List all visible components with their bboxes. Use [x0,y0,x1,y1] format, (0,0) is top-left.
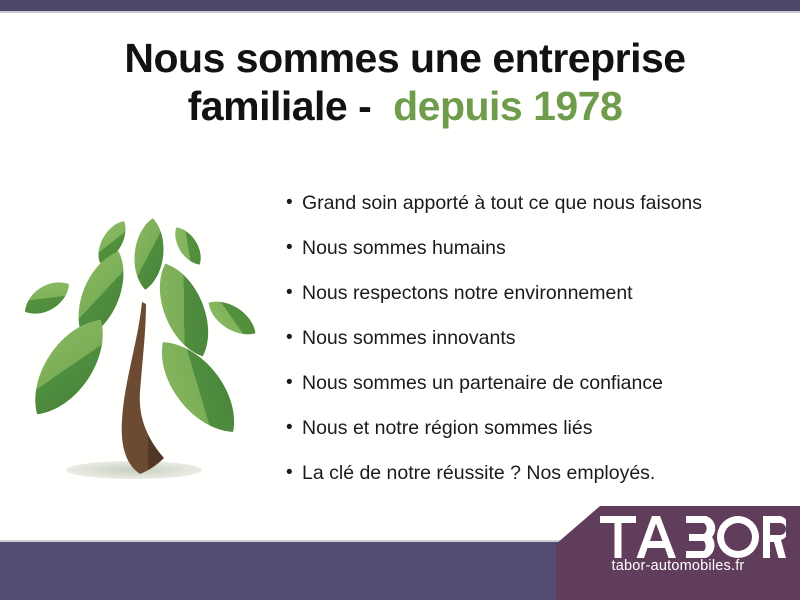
bullet-marker-icon: • [286,190,302,216]
slide-canvas: Nous sommes une entreprise familiale - d… [0,0,800,600]
top-band-divider [0,11,800,13]
bullet-list: • Grand soin apporté à tout ce que nous … [286,190,786,505]
bullet-marker-icon: • [286,235,302,261]
list-item: • Nous sommes humains [286,235,786,280]
list-item: • La clé de notre réussite ? Nos employé… [286,460,786,505]
brand-url: tabor-automobiles.fr [556,558,800,574]
bullet-text: Nous sommes un partenaire de confiance [302,370,663,396]
tree-illustration [16,182,266,492]
tree-trunk [122,302,164,474]
bullet-text: Nous sommes humains [302,235,506,261]
leaf-7 [202,293,261,342]
title-dash-glyph: - [358,83,371,129]
list-item: • Nous respectons notre environnement [286,280,786,325]
page-title: Nous sommes une entreprise familiale - d… [60,34,750,131]
leaf-5 [19,274,76,322]
title-line-1: Nous sommes une entreprise [60,34,750,82]
title-prefix: familiale [188,83,348,129]
leaf-3 [169,223,208,270]
title-accent: depuis 1978 [393,83,622,129]
bullet-text: La clé de notre réussite ? Nos employés. [302,460,655,486]
bullet-text: Nous et notre région sommes liés [302,415,592,441]
list-item: • Nous sommes innovants [286,325,786,370]
bullet-marker-icon: • [286,325,302,351]
title-spacer [371,83,393,129]
bullet-text: Grand soin apporté à tout ce que nous fa… [302,190,702,216]
list-item: • Nous et notre région sommes liés [286,415,786,460]
bullet-marker-icon: • [286,460,302,486]
title-line-2: familiale - depuis 1978 [60,82,750,130]
bullet-text: Nous respectons notre environnement [302,280,633,306]
bullet-marker-icon: • [286,370,302,396]
list-item: • Nous sommes un partenaire de confiance [286,370,786,415]
leaf-8 [18,307,119,427]
bullet-text: Nous sommes innovants [302,325,516,351]
bullet-marker-icon: • [286,280,302,306]
bullet-marker-icon: • [286,415,302,441]
brand-logo: tabor-automobiles.fr [556,506,800,600]
tabor-wordmark-icon [600,516,786,558]
list-item: • Grand soin apporté à tout ce que nous … [286,190,786,235]
top-purple-band [0,0,800,11]
title-dash [347,83,358,129]
